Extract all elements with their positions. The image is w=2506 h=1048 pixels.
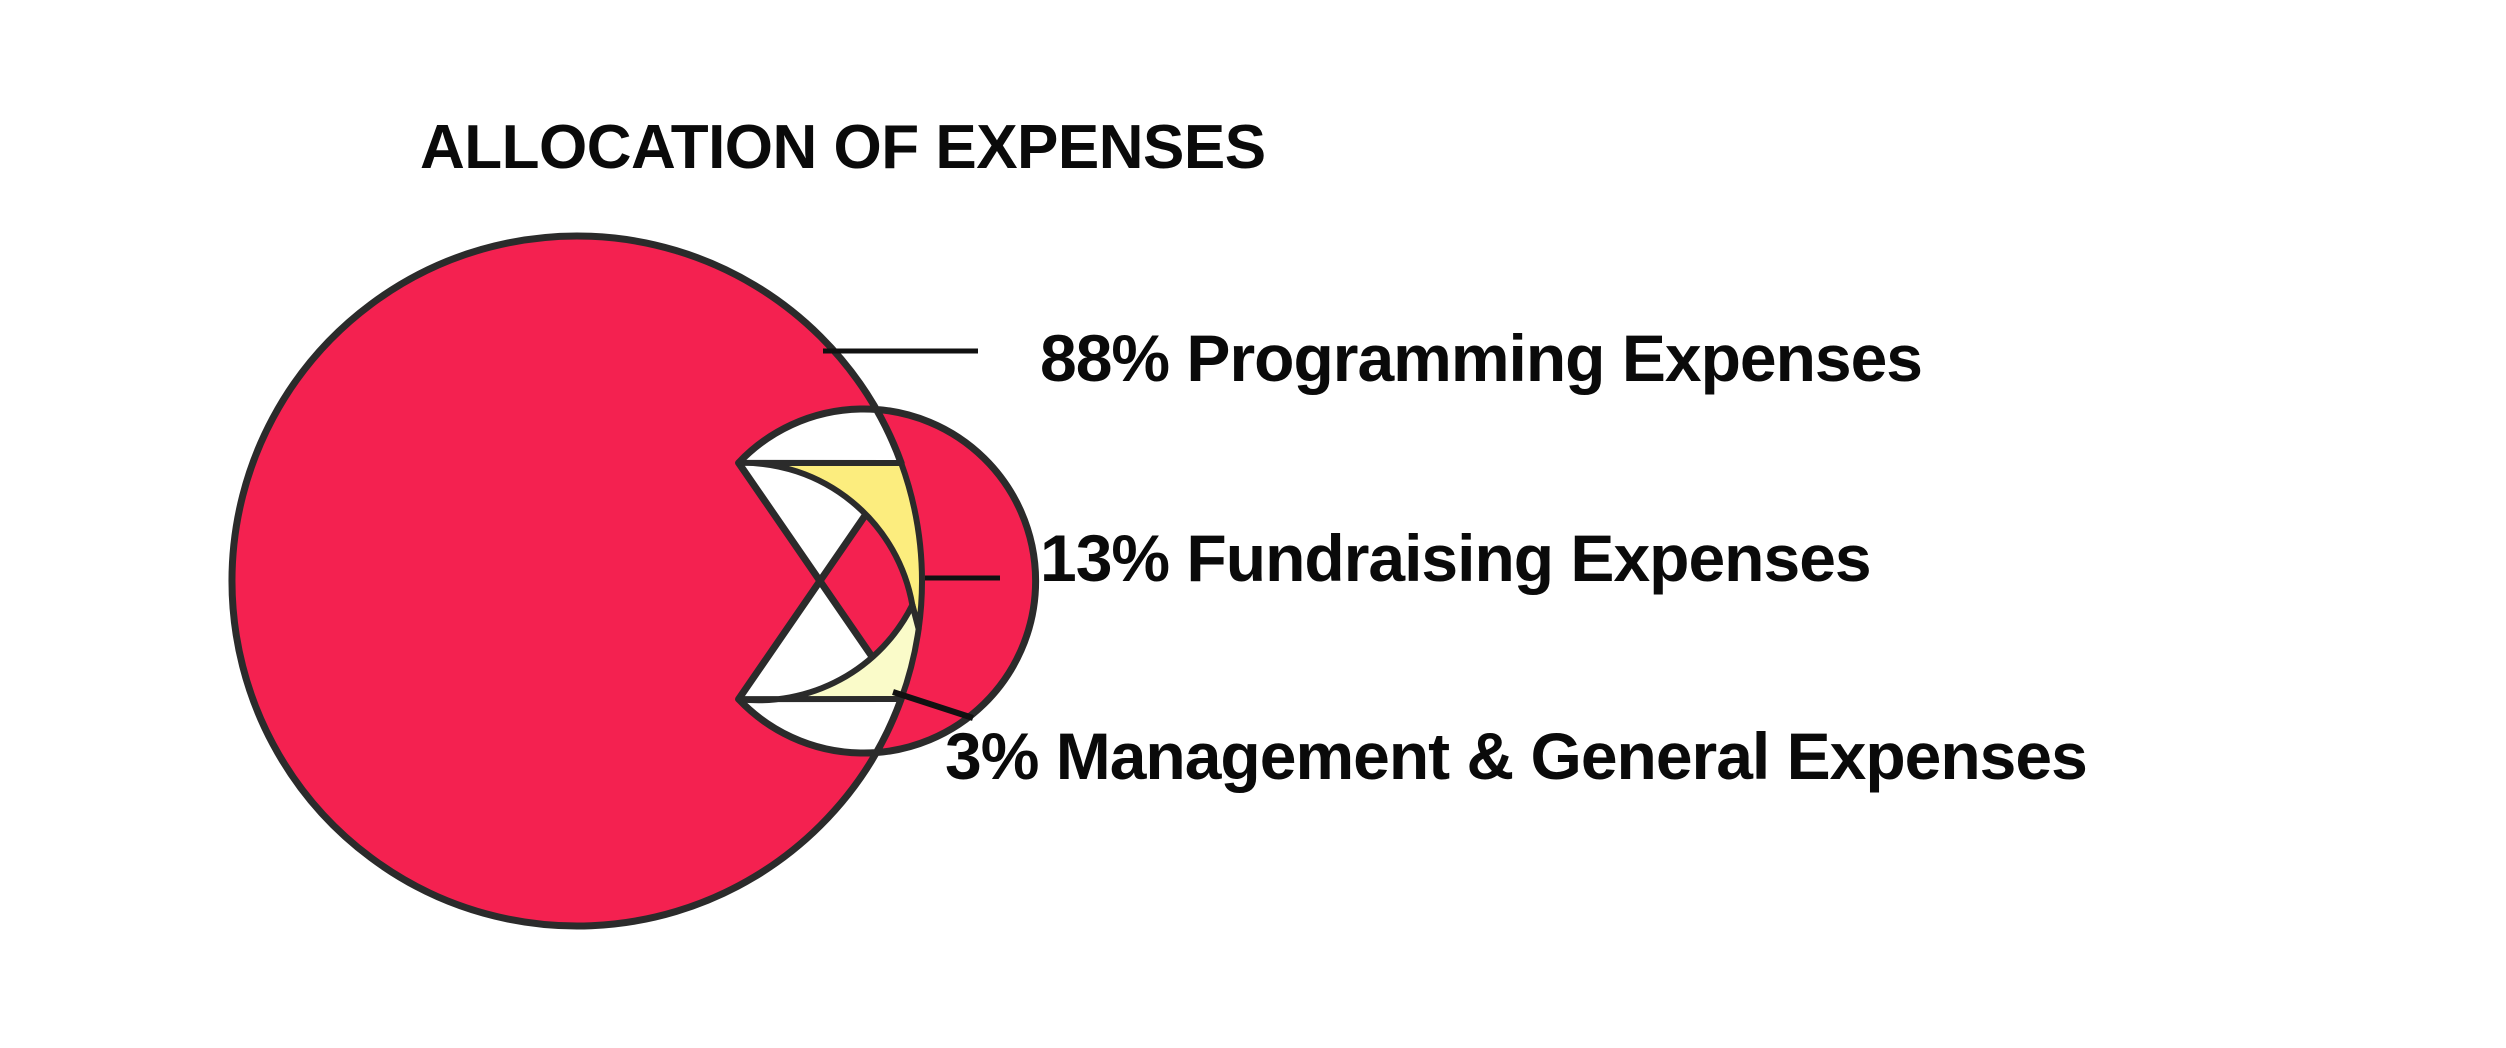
legend-item-fundraising[interactable]: 13% Fundraising Expenses: [1040, 525, 1871, 591]
legend-item-management[interactable]: 3% Management & General Expenses: [945, 723, 2087, 789]
expense-allocation-chart: ALLOCATION OF EXPENSES 88% Programming E…: [0, 0, 2506, 1048]
legend-item-programming[interactable]: 88% Programming Expenses: [1040, 325, 1922, 391]
